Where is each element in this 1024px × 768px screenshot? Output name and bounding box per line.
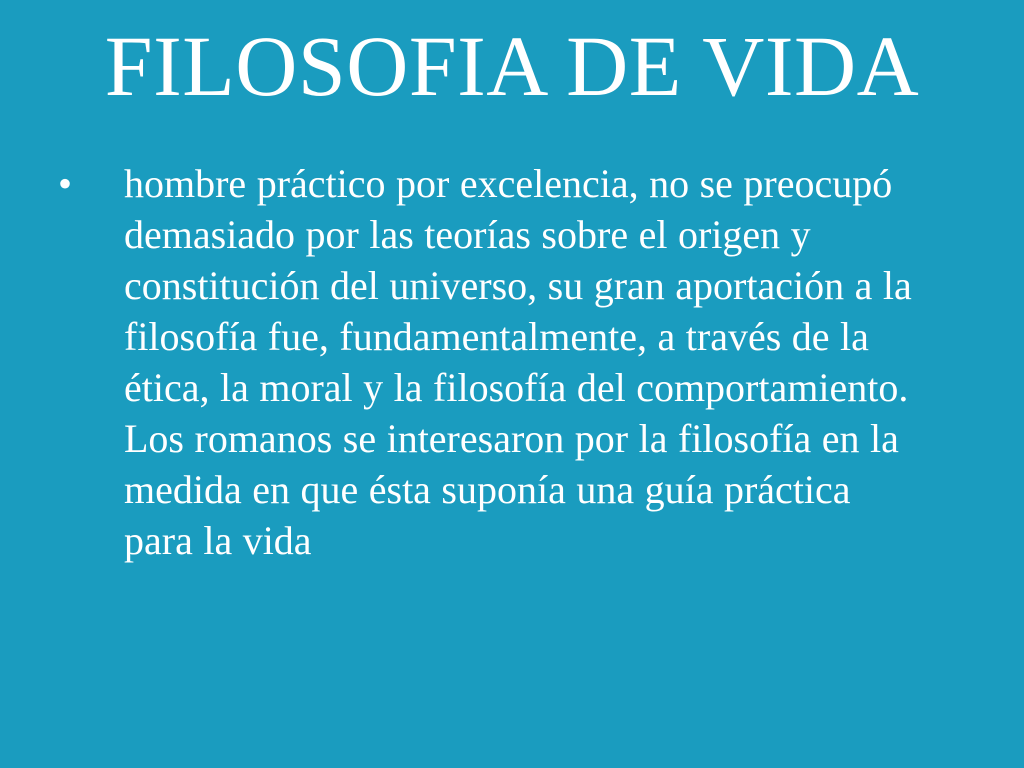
slide-title: FILOSOFIA DE VIDA xyxy=(0,14,1024,118)
bullet-point-icon: • xyxy=(52,158,124,209)
bullet-list-item: • hombre práctico por excelencia, no se … xyxy=(52,158,972,566)
presentation-slide: FILOSOFIA DE VIDA • hombre práctico por … xyxy=(0,0,1024,768)
bullet-item-text: hombre práctico por excelencia, no se pr… xyxy=(124,158,914,566)
slide-body-placeholder: • hombre práctico por excelencia, no se … xyxy=(52,158,972,566)
